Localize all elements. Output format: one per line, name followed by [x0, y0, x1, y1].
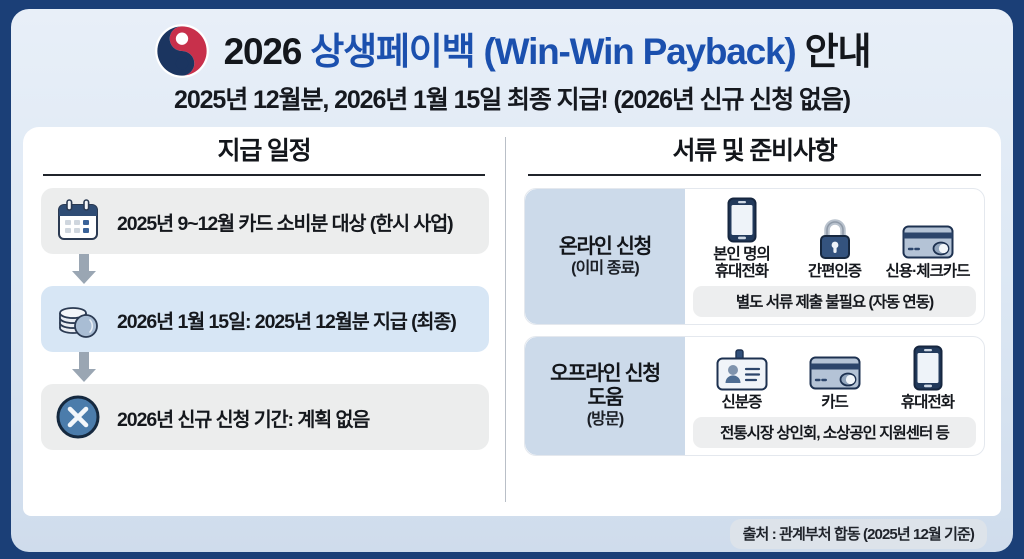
- payment-schedule-panel: 지급 일정: [23, 127, 505, 516]
- timeline-label: 2025년 9~12월 카드 소비분 대상 (한시 사업): [117, 207, 453, 236]
- online-application-group[interactable]: 온라인 신청 (이미 종료): [524, 188, 985, 325]
- group-label: 온라인 신청 (이미 종료): [525, 189, 685, 324]
- group-label-main: 오프라인 신청: [550, 362, 660, 385]
- coins-icon: [51, 292, 105, 346]
- poster-card: 2026 상생페이백 (Win-Win Payback) 안내 2025년 12…: [11, 9, 1013, 552]
- requirement-item-label: 카드: [821, 394, 848, 411]
- timeline-arrow-icon: [67, 352, 489, 384]
- timeline-label-rest: 카드 소비분 대상 (한시 사업): [234, 213, 453, 235]
- timeline: 2025년 9~12월 카드 소비분 대상 (한시 사업): [39, 188, 489, 450]
- title-accent: 상생페이백 (Win-Win Payback): [310, 31, 795, 72]
- right-panel-divider: [528, 174, 981, 176]
- group-label: 오프라인 신청 도움 (방문): [525, 337, 685, 455]
- requirement-item[interactable]: 휴대전화: [881, 345, 974, 411]
- offline-application-group[interactable]: 오프라인 신청 도움 (방문): [524, 336, 985, 456]
- calendar-icon: [51, 194, 105, 248]
- poster-frame: 2026 상생페이백 (Win-Win Payback) 안내 2025년 12…: [0, 0, 1024, 559]
- timeline-row[interactable]: 2026년 1월 15일: 2025년 12월분 지급 (최종): [41, 286, 489, 352]
- mobile-phone-icon: [727, 197, 757, 243]
- requirement-item[interactable]: 카드: [788, 345, 881, 411]
- group-note: 전통시장 상인회, 소상공인 지원센터 등: [693, 417, 976, 448]
- title-tail: 안내: [805, 31, 871, 72]
- credit-card-icon: [809, 345, 861, 391]
- requirement-item-label: 신용·체크카드: [885, 263, 969, 280]
- timeline-row[interactable]: 2025년 9~12월 카드 소비분 대상 (한시 사업): [41, 188, 489, 254]
- credit-card-icon: [902, 214, 954, 260]
- timeline-label-bold: 2026년 1월 15일:: [117, 311, 250, 333]
- timeline-label-rest: 2025년 12월분 지급 (최종): [250, 311, 455, 333]
- group-label-main2: 도움: [587, 386, 622, 409]
- left-panel-heading: 지급 일정: [39, 139, 489, 174]
- requirement-item-label: 간편인증: [808, 263, 861, 280]
- group-body: 본인 명의 휴대전화: [685, 189, 984, 324]
- content-area: 지급 일정: [23, 127, 1001, 516]
- group-items: 신분증: [693, 345, 976, 412]
- timeline-label: 2026년 신규 신청 기간: 계획 없음: [117, 403, 369, 432]
- timeline-label: 2026년 1월 15일: 2025년 12월분 지급 (최종): [117, 305, 456, 334]
- requirement-groups: 온라인 신청 (이미 종료): [524, 188, 985, 456]
- timeline-label-bold: 2026년 신규 신청 기간:: [117, 409, 293, 431]
- timeline-arrow-icon: [67, 254, 489, 286]
- footer: 출처 : 관계부처 합동 (2025년 12월 기준): [11, 516, 1013, 552]
- timeline-label-rest: 계획 없음: [293, 409, 369, 431]
- right-panel-heading: 서류 및 준비사항: [524, 139, 985, 174]
- requirement-item-label: 본인 명의 휴대전화: [713, 246, 770, 281]
- left-panel-divider: [43, 174, 485, 176]
- header: 2026 상생페이백 (Win-Win Payback) 안내 2025년 12…: [11, 9, 1013, 121]
- requirement-item[interactable]: 간편인증: [788, 214, 881, 280]
- requirement-item[interactable]: 신용·체크카드: [881, 214, 974, 280]
- requirement-item-label: 신분증: [722, 394, 762, 411]
- requirement-item[interactable]: 본인 명의 휴대전화: [695, 197, 788, 281]
- documents-panel: 서류 및 준비사항 온라인 신청 (이미 종료): [506, 127, 1001, 516]
- requirement-item-label: 휴대전화: [901, 394, 954, 411]
- korea-government-taegeuk-emblem: [154, 23, 210, 79]
- x-circle-icon: [51, 390, 105, 444]
- timeline-row[interactable]: 2026년 신규 신청 기간: 계획 없음: [41, 384, 489, 450]
- group-body: 신분증: [685, 337, 984, 455]
- source-badge: 출처 : 관계부처 합동 (2025년 12월 기준): [730, 519, 987, 549]
- group-label-sub: (이미 종료): [571, 259, 639, 278]
- group-label-sub: (방문): [587, 410, 624, 429]
- page-subtitle: 2025년 12월분, 2026년 1월 15일 최종 지급! (2026년 신…: [11, 88, 1013, 113]
- requirement-item[interactable]: 신분증: [695, 345, 788, 411]
- group-items: 본인 명의 휴대전화: [693, 197, 976, 281]
- id-card-icon: [716, 345, 768, 391]
- lock-icon: [816, 214, 854, 260]
- page-title: 2026 상생페이백 (Win-Win Payback) 안내: [224, 33, 871, 70]
- timeline-label-bold: 2025년 9~12월: [117, 213, 234, 235]
- title-row: 2026 상생페이백 (Win-Win Payback) 안내: [11, 23, 1013, 79]
- group-note: 별도 서류 제출 불필요 (자동 연동): [693, 286, 976, 317]
- group-label-main: 온라인 신청: [559, 235, 651, 258]
- mobile-phone-icon: [913, 345, 943, 391]
- title-year: 2026: [224, 31, 302, 72]
